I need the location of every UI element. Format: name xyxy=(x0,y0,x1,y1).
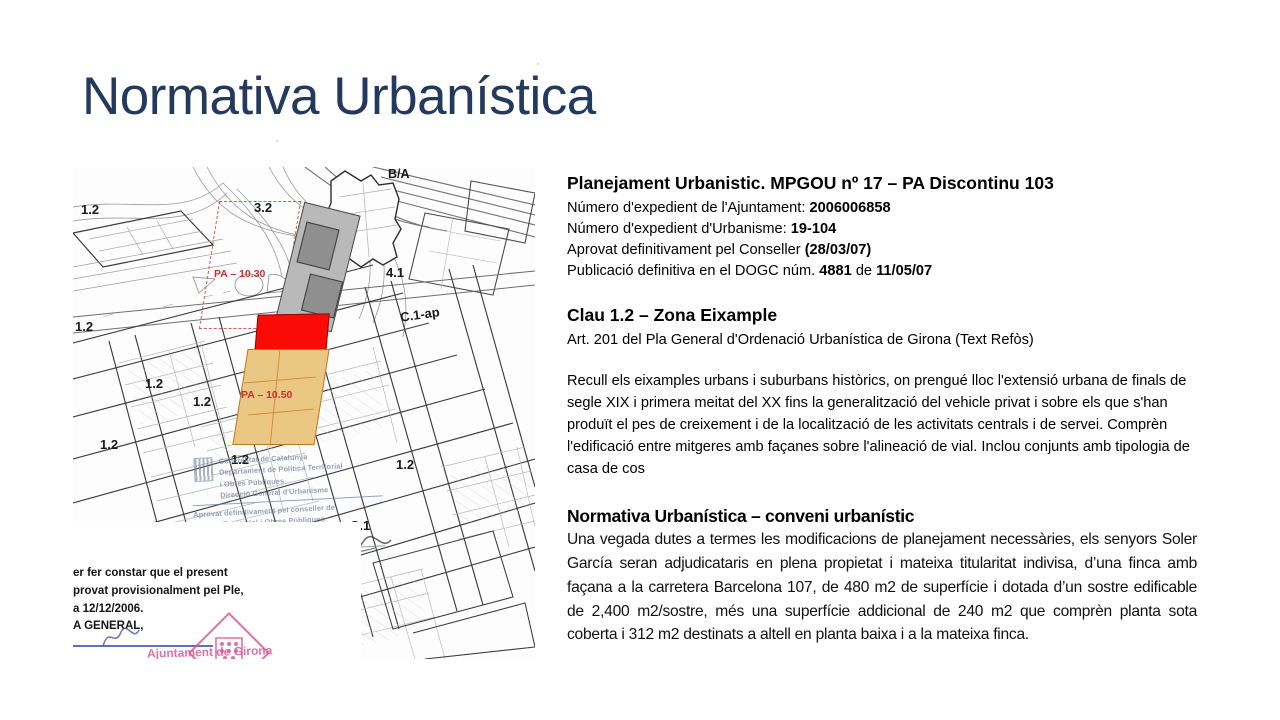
clau-subheading: Art. 201 del Pla General d'Ordenació Urb… xyxy=(567,330,1197,351)
speck xyxy=(276,140,278,142)
publication-date: 11/05/07 xyxy=(876,263,932,279)
publication-mid: de xyxy=(856,263,872,279)
row-label: Número d'expedient d'Urbanisme: xyxy=(567,221,787,237)
map-zone-label: B/A xyxy=(388,167,410,181)
clau-paragraph: Recull els eixamples urbans i suburbans … xyxy=(567,371,1197,480)
map-zone-label: 1.2 xyxy=(100,437,118,452)
map-parcel-label: PA – 10.30 xyxy=(214,268,265,280)
map-zone-label: 4.1 xyxy=(386,265,404,280)
girona-stamp-label: Ajuntament de Girona xyxy=(147,643,273,659)
section-conveni: Normativa Urbanística – conveni urbaníst… xyxy=(567,506,1197,646)
row-value: 2006006858 xyxy=(809,200,890,216)
speck xyxy=(537,63,539,65)
clau-heading: Clau 1.2 – Zona Eixample xyxy=(567,304,1197,328)
certificate-line: provat provisionalment pel Ple, xyxy=(73,583,363,601)
conveni-heading: Normativa Urbanística – conveni urbaníst… xyxy=(567,506,1197,527)
map-zone-label: 1.2 xyxy=(81,202,99,217)
map-zone-label: 1.2 xyxy=(145,376,163,391)
parcel-highlight-red xyxy=(254,313,329,352)
certificate-line: er fer constar que el present xyxy=(73,565,301,583)
spacer xyxy=(567,282,1197,304)
publication-number: 4881 xyxy=(819,263,851,279)
section-clau: Clau 1.2 – Zona Eixample Art. 201 del Pl… xyxy=(567,304,1197,480)
row-value: 19-104 xyxy=(791,221,836,237)
map-zone-label: 1.2 xyxy=(396,457,414,472)
map-zone-label: 1.2 xyxy=(75,319,93,334)
content-column: Planejament Urbanistic. MPGOU nº 17 – PA… xyxy=(567,172,1197,647)
spacer xyxy=(567,351,1197,371)
page-title: Normativa Urbanística xyxy=(82,68,596,126)
planejament-row: Aprovat definitivament pel Conseller (28… xyxy=(567,240,1197,261)
publication-prefix: Publicació definitiva en el DOGC núm. xyxy=(567,263,815,279)
row-label: Aprovat definitivament pel Conseller xyxy=(567,242,801,258)
section-planejament: Planejament Urbanistic. MPGOU nº 17 – PA… xyxy=(567,172,1197,282)
map-parcel-label: PA – 10.50 xyxy=(241,389,292,401)
conveni-paragraph: Una vegada dutes a termes les modificaci… xyxy=(567,528,1197,646)
planejament-publication: Publicació definitiva en el DOGC núm. 48… xyxy=(567,261,1197,282)
planejament-row: Número d'expedient de l'Ajuntament: 2006… xyxy=(567,198,1197,219)
row-label: Número d'expedient de l'Ajuntament: xyxy=(567,200,805,216)
map-zone-label: 1.2 xyxy=(193,394,211,409)
planejament-heading: Planejament Urbanistic. MPGOU nº 17 – PA… xyxy=(567,172,1197,196)
row-value: (28/03/07) xyxy=(805,242,872,258)
planejament-row: Número d'expedient d'Urbanisme: 19-104 xyxy=(567,219,1197,240)
cadastral-map-figure: 1.2 3.2 B/A 4.1 C.1-ap 1.2 1.2 1.2 1.2 1… xyxy=(73,167,535,659)
spacer xyxy=(567,480,1197,506)
generalitat-emblem-icon xyxy=(193,457,213,482)
map-zone-label: 3.2 xyxy=(254,200,272,215)
